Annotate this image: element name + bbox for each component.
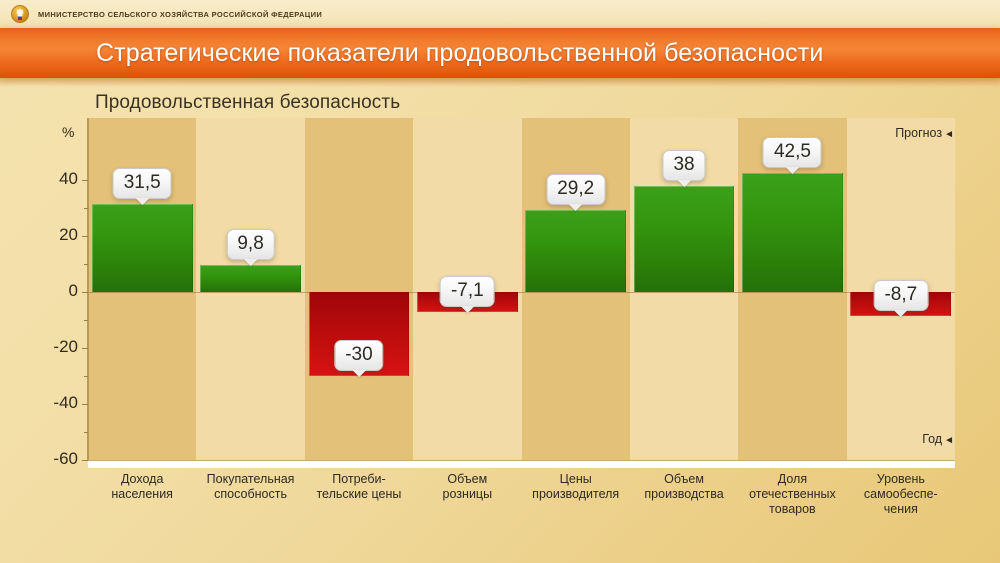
left-arrow-icon: ◄: [944, 435, 954, 446]
category-label: Объем розницы: [405, 472, 529, 502]
y-axis-tick: [82, 348, 88, 349]
bar-value-label: 31,5: [113, 168, 172, 199]
plot-area: [88, 118, 955, 460]
category-label: Объем производства: [622, 472, 746, 502]
y-axis-tick: [82, 292, 88, 293]
bar: [92, 204, 193, 292]
y-axis-tick-label: 20: [30, 225, 78, 245]
y-axis-tick-label: -60: [30, 449, 78, 469]
column-band: [305, 118, 413, 460]
category-label: Уровень самообеспе- чения: [839, 472, 963, 517]
y-axis-minor-tick: [84, 320, 88, 321]
y-axis-tick: [82, 180, 88, 181]
forecast-annotation: Прогноз◄: [895, 126, 954, 140]
category-label: Цены производителя: [514, 472, 638, 502]
bar-value-label: 29,2: [546, 174, 605, 205]
y-axis-tick-label: 40: [30, 169, 78, 189]
category-label: Доля отечественных товаров: [730, 472, 854, 517]
y-axis-minor-tick: [84, 208, 88, 209]
slide: МИНИСТЕРСТВО СЕЛЬСКОГО ХОЗЯЙСТВА РОССИЙС…: [0, 0, 1000, 563]
bar-value-label: 42,5: [763, 137, 822, 168]
forecast-annotation-label: Прогноз: [895, 126, 942, 140]
year-annotation: Год◄: [922, 432, 954, 446]
y-axis-tick: [82, 404, 88, 405]
y-axis-minor-tick: [84, 432, 88, 433]
y-axis-tick-label: -40: [30, 393, 78, 413]
y-axis-line: [87, 118, 89, 461]
y-axis-unit-label: %: [62, 124, 74, 140]
category-label: Доходa населения: [80, 472, 204, 502]
bar: [742, 173, 843, 292]
category-label: Покупательная способность: [188, 472, 312, 502]
bar-value-label: -7,1: [440, 276, 495, 307]
y-axis-tick-label: -20: [30, 337, 78, 357]
bar: [634, 186, 735, 292]
bar-value-label: 38: [662, 150, 705, 181]
left-arrow-icon: ◄: [944, 129, 954, 140]
y-axis-tick: [82, 236, 88, 237]
y-axis-tick-label: 0: [30, 281, 78, 301]
bar-value-label: -8,7: [873, 280, 928, 311]
bar: [200, 265, 301, 292]
zero-line: [88, 292, 955, 293]
y-axis-minor-tick: [84, 376, 88, 377]
bar-value-label: 9,8: [226, 229, 274, 260]
bar-value-label: -30: [334, 340, 383, 371]
year-annotation-label: Год: [922, 432, 942, 446]
category-axis-strip: [88, 460, 955, 468]
bar: [525, 210, 626, 292]
chart-plot: % 40200-20-40-60 Доходa населенияПокупат…: [0, 0, 1000, 563]
y-axis-minor-tick: [84, 264, 88, 265]
category-label: Потреби- тельские цены: [297, 472, 421, 502]
